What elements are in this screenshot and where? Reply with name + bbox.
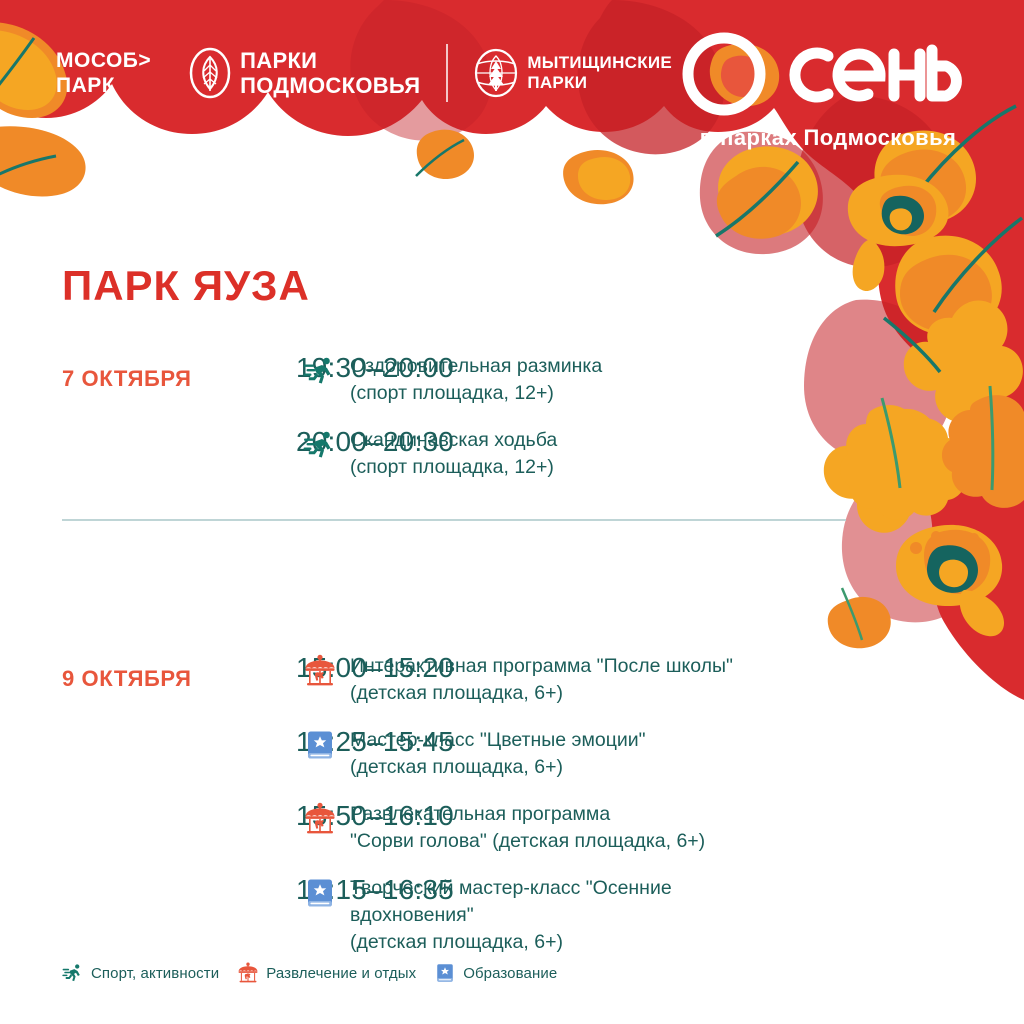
book-icon [303,876,337,910]
event-row: 20:00–20:30 Скандинавская ходьба(спорт п… [0,426,1024,500]
event-time: 16:15–16:35 [0,874,298,906]
event-description-line: (детская площадка, 6+) [350,754,772,781]
event-description-line: Скандинавская ходьба [350,427,772,454]
legend: Спорт, активности Развлечение и отдых Об… [62,962,557,984]
event-description-line: Оздоровительная разминка [350,353,772,380]
schedule-list: 7 ОКТЯБРЯ19:30–20:00 Оздоровительная раз… [0,352,1024,970]
brand-header: МОСОБ> ПАРК ПАРКИ ПОДМОСКОВЬЯ [56,44,672,102]
event-category-icon [298,800,342,840]
event-row: 16:15–16:35 Творческий мастер-класс "Осе… [0,874,1024,970]
page-title: ПАРК ЯУЗА [62,262,310,310]
event-description-line: (спорт площадка, 12+) [350,380,772,407]
event-description: Развлекательная программа"Сорви голова" … [342,800,772,855]
logo-parki-label: ПАРКИ ПОДМОСКОВЬЯ [240,48,420,98]
carousel-icon [303,802,337,836]
carousel-icon [303,654,337,688]
event-description-line: вдохновения" [350,902,772,929]
event-description-line: Творческий мастер-класс "Осенние [350,875,772,902]
logo-mosoblpark: МОСОБ> ПАРК [56,48,151,98]
globe-tree-icon [474,48,518,98]
legend-item: Образование [434,962,557,984]
sport-icon [303,354,337,388]
event-category-icon [298,426,342,466]
event-description: Мастер-класс "Цветные эмоции"(детская пл… [342,726,772,781]
campaign-logo-mark [678,28,978,129]
logo-divider [446,44,448,102]
legend-label: Спорт, активности [91,965,219,982]
event-description-line: Развлекательная программа [350,801,772,828]
event-row: 15:25–15:45 Мастер-класс "Цветные эмоции… [0,726,1024,800]
event-rows: 15:00–15:20 Интерактивная программа "Пос… [0,652,1024,970]
book-icon [303,728,337,762]
campaign-logo: в парках Подмосковья [678,28,978,151]
event-description: Оздоровительная разминка(спорт площадка,… [342,352,772,407]
event-description: Интерактивная программа "После школы"(де… [342,652,772,707]
event-description-line: (детская площадка, 6+) [350,929,772,956]
leaf-circle-icon [189,47,231,99]
campaign-subtitle: в парках Подмосковья [678,125,978,151]
event-description-line: (детская площадка, 6+) [350,680,772,707]
legend-icon [62,962,84,984]
event-category-icon [298,652,342,692]
legend-item: Развлечение и отдых [237,962,416,984]
event-row: 15:50–16:10 Развлекательная программа"Со… [0,800,1024,874]
event-description-line: Интерактивная программа "После школы" [350,653,772,680]
carousel-icon [237,962,259,984]
event-time: 20:00–20:30 [0,426,298,458]
day-date-label: 7 ОКТЯБРЯ [62,366,192,392]
poster-content: ПАРК ЯУЗА 7 ОКТЯБРЯ19:30–20:00 Оздоровит… [0,0,1024,1024]
event-category-icon [298,874,342,914]
sport-icon [62,962,84,984]
logo-parki-podmoskovya: ПАРКИ ПОДМОСКОВЬЯ [189,47,420,99]
event-description: Творческий мастер-класс "Осенниевдохнове… [342,874,772,956]
event-time: 15:25–15:45 [0,726,298,758]
day-block: 7 ОКТЯБРЯ19:30–20:00 Оздоровительная раз… [0,352,1024,500]
legend-icon [434,962,456,984]
event-description-line: Мастер-класс "Цветные эмоции" [350,727,772,754]
logo-mytishinskie-parki: МЫТИЩИНСКИЕ ПАРКИ [474,48,672,98]
day-block: 9 ОКТЯБРЯ15:00–15:20 Интерактивная прогр… [0,652,1024,970]
legend-item: Спорт, активности [62,962,219,984]
event-time: 15:50–16:10 [0,800,298,832]
event-category-icon [298,352,342,392]
book-icon [434,962,456,984]
poster-canvas: МОСОБ> ПАРК ПАРКИ ПОДМОСКОВЬЯ [0,0,1024,1024]
logo-mytishi-label: МЫТИЩИНСКИЕ ПАРКИ [527,53,672,93]
legend-label: Образование [463,965,557,982]
day-date-label: 9 ОКТЯБРЯ [62,666,192,692]
event-description-line: "Сорви голова" (детская площадка, 6+) [350,828,772,855]
legend-icon [237,962,259,984]
event-category-icon [298,726,342,766]
legend-label: Развлечение и отдых [266,965,416,982]
sport-icon [303,428,337,462]
event-description: Скандинавская ходьба(спорт площадка, 12+… [342,426,772,481]
event-description-line: (спорт площадка, 12+) [350,454,772,481]
